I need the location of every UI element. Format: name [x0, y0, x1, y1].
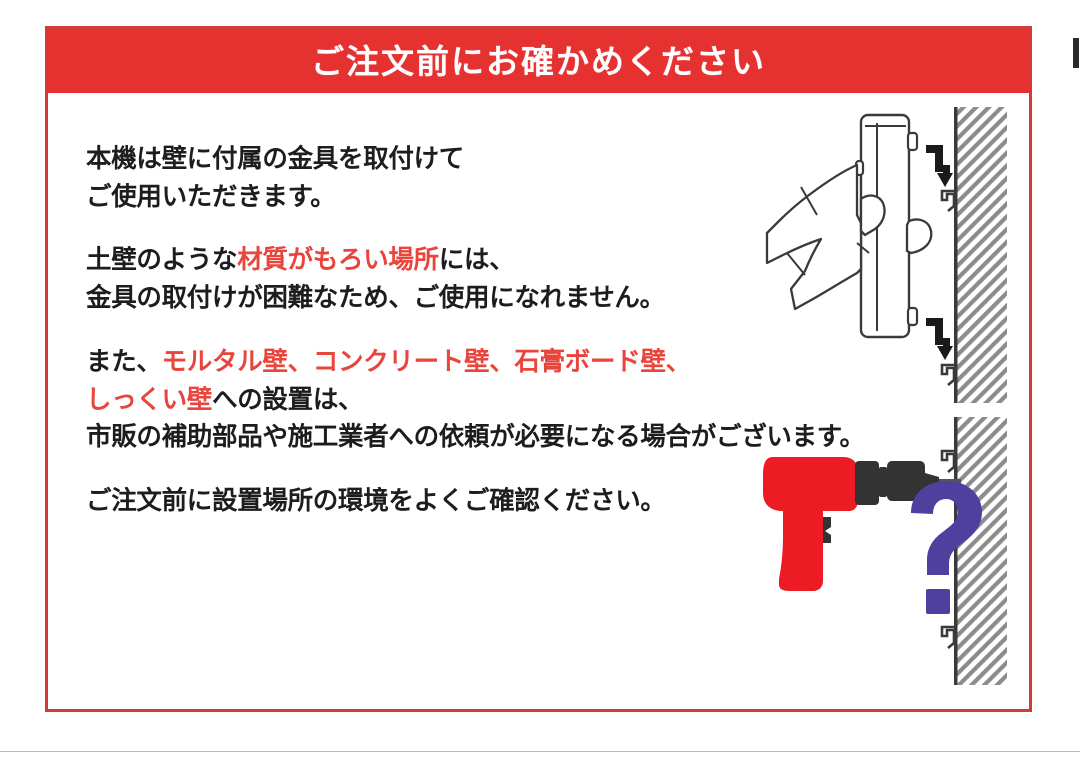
wall-hatch [954, 107, 1007, 403]
notice-text-column: 本機は壁に付属の金具を取付けて ご使用いただきます。 土壁のような材質がもろい場… [86, 141, 751, 521]
notice-paragraph-2: 土壁のような材質がもろい場所には、金具の取付けが困難なため、ご使用になれません。 [86, 242, 751, 317]
illustration-column [761, 103, 1011, 703]
drill-illustration [761, 409, 1011, 699]
mounting-direction-arrow [926, 145, 953, 360]
page-divider [0, 751, 1080, 752]
paragraph-4-segment-1: ご注文前に設置場所の環境をよくご確認ください。 [86, 487, 666, 515]
paragraph-1-segment-1: 本機は壁に付属の金具を取付けて [86, 145, 464, 173]
notice-paragraph-4: ご注文前に設置場所の環境をよくご確認ください。 [86, 483, 751, 521]
notice-paragraph-1: 本機は壁に付属の金具を取付けて ご使用いただきます。 [86, 141, 751, 216]
notice-body: 本機は壁に付属の金具を取付けて ご使用いただきます。 土壁のような材質がもろい場… [48, 93, 1029, 709]
notice-header-band: ご注文前にお確かめください [48, 29, 1029, 93]
paragraph-2-segment-1: 土壁のような [86, 246, 237, 274]
notice-paragraph-3: また、モルタル壁、コンクリート壁、石膏ボード壁、しっくい壁への設置は、市販の補助… [86, 344, 751, 457]
wall-hatch [954, 417, 1007, 685]
paragraph-3-segment-1: また、 [86, 348, 162, 376]
paragraph-1-segment-2: ご使用いただきます。 [86, 183, 335, 211]
notice-header-title: ご注文前にお確かめください [311, 45, 766, 78]
mount-illustration [761, 103, 1011, 403]
paragraph-3-highlight: モルタル壁、コンクリート壁、石膏ボード壁、しっくい壁 [86, 348, 691, 414]
notice-card: ご注文前にお確かめください 本機は壁に付属の金具を取付けて ご使用いただきます。… [45, 26, 1032, 712]
paragraph-2-highlight: 材質がもろい場所 [237, 246, 439, 274]
page-edge-mark [1073, 38, 1079, 68]
